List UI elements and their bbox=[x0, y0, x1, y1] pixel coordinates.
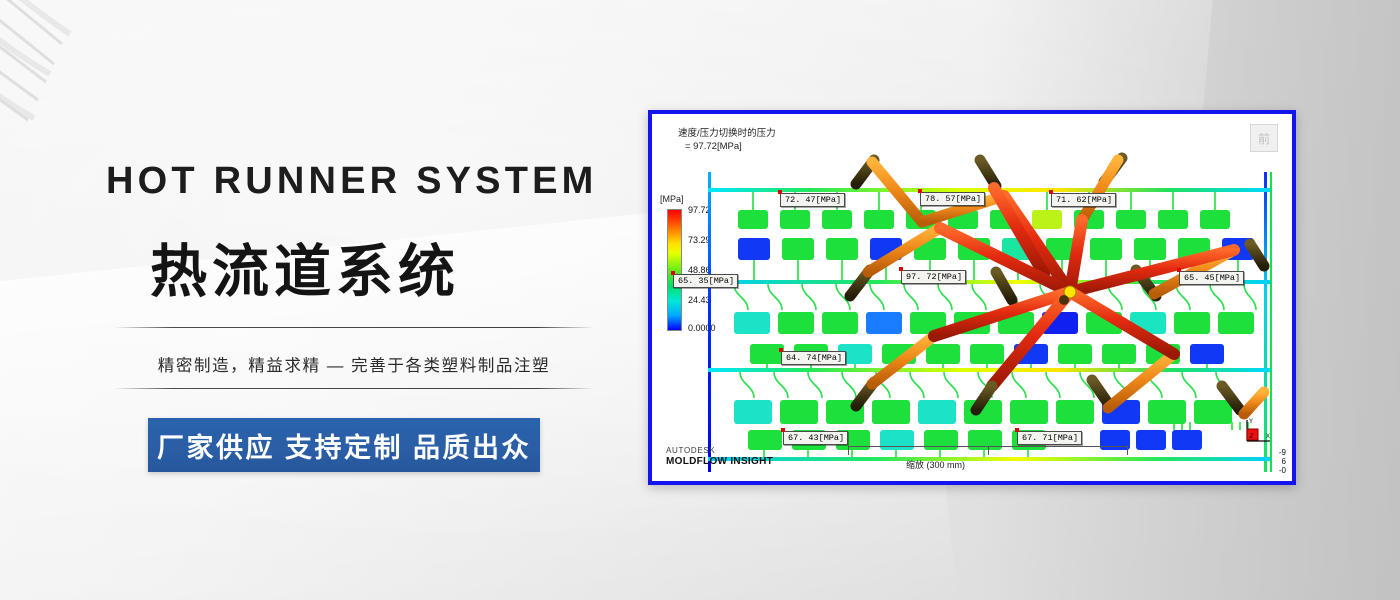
callout-marker bbox=[779, 348, 783, 352]
colorbar-unit-label: [MPa] bbox=[660, 194, 684, 204]
hero-text-block: HOT RUNNER SYSTEM 热流道系统 精密制造，精益求精 — 完善于各… bbox=[0, 0, 640, 600]
autodesk-brand: AUTODESK MOLDFLOW INSIGHT bbox=[666, 445, 773, 467]
scale-label: 缩放 (300 mm) bbox=[906, 458, 965, 471]
callout-value: 64. 74[MPa] bbox=[781, 351, 846, 365]
scale-tick bbox=[988, 446, 989, 455]
scale-tick bbox=[1127, 446, 1128, 455]
coordinate-x: -9 bbox=[1279, 448, 1286, 457]
callout-marker bbox=[1049, 190, 1053, 194]
callout-marker bbox=[781, 428, 785, 432]
page-subtitle: 精密制造，精益求精 — 完善于各类塑料制品注塑 bbox=[114, 352, 594, 376]
view-orientation-button[interactable]: 前 bbox=[1250, 124, 1278, 152]
callout-marker bbox=[1177, 268, 1181, 272]
result-title-line2: = 97.72[MPa] bbox=[678, 140, 776, 153]
coordinate-y: 6 bbox=[1279, 457, 1286, 466]
callout-value: 67. 43[MPa] bbox=[783, 431, 848, 445]
callout-value: 97. 72[MPa] bbox=[901, 270, 966, 284]
cta-label: 厂家供应 支持定制 品质出众 bbox=[157, 426, 531, 465]
simulation-canvas: 速度/压力切换时的压力 = 97.72[MPa] 前 [MPa] 97.72 7… bbox=[652, 114, 1292, 481]
callout-value: 65. 35[MPa] bbox=[673, 274, 738, 288]
scale-tick bbox=[848, 446, 849, 455]
scale-bar bbox=[848, 446, 1128, 455]
page-title-cn: 热流道系统 bbox=[150, 226, 570, 308]
page-title-en: HOT RUNNER SYSTEM bbox=[106, 160, 606, 203]
callout-marker bbox=[918, 189, 922, 193]
callout-value: 78. 57[MPa] bbox=[920, 192, 985, 206]
callout-value: 72. 47[MPa] bbox=[780, 193, 845, 207]
brand-line-moldflow: MOLDFLOW INSIGHT bbox=[666, 456, 773, 467]
coordinate-readout: -9 6 -0 bbox=[1279, 448, 1286, 475]
coordinate-z: -0 bbox=[1279, 466, 1286, 475]
callout-value: 71. 62[MPa] bbox=[1051, 193, 1116, 207]
svg-text:Y: Y bbox=[1249, 419, 1253, 425]
hero-banner: HOT RUNNER SYSTEM 热流道系统 精密制造，精益求精 — 完善于各… bbox=[0, 0, 1400, 600]
colorbar-gradient bbox=[667, 209, 682, 331]
mesh-result-plot bbox=[704, 172, 1292, 472]
callout-marker bbox=[1015, 428, 1019, 432]
callout-marker bbox=[778, 190, 782, 194]
divider-top bbox=[114, 327, 594, 328]
callout-marker bbox=[899, 267, 903, 271]
svg-text:X: X bbox=[1266, 434, 1270, 440]
result-title-line1: 速度/压力切换时的压力 bbox=[678, 127, 776, 140]
svg-text:Z: Z bbox=[1249, 434, 1254, 440]
callout-value: 67. 71[MPa] bbox=[1017, 431, 1082, 445]
callout-marker bbox=[671, 271, 675, 275]
cta-banner[interactable]: 厂家供应 支持定制 品质出众 bbox=[148, 418, 540, 472]
divider-bottom bbox=[114, 388, 594, 389]
axis-triad: Y Z X bbox=[1240, 417, 1274, 447]
callout-value: 65. 45[MPa] bbox=[1179, 271, 1244, 285]
moldflow-simulation-panel: 速度/压力切换时的压力 = 97.72[MPa] 前 [MPa] 97.72 7… bbox=[648, 110, 1296, 485]
brand-line-autodesk: AUTODESK bbox=[666, 445, 773, 456]
result-title: 速度/压力切换时的压力 = 97.72[MPa] bbox=[678, 127, 776, 153]
